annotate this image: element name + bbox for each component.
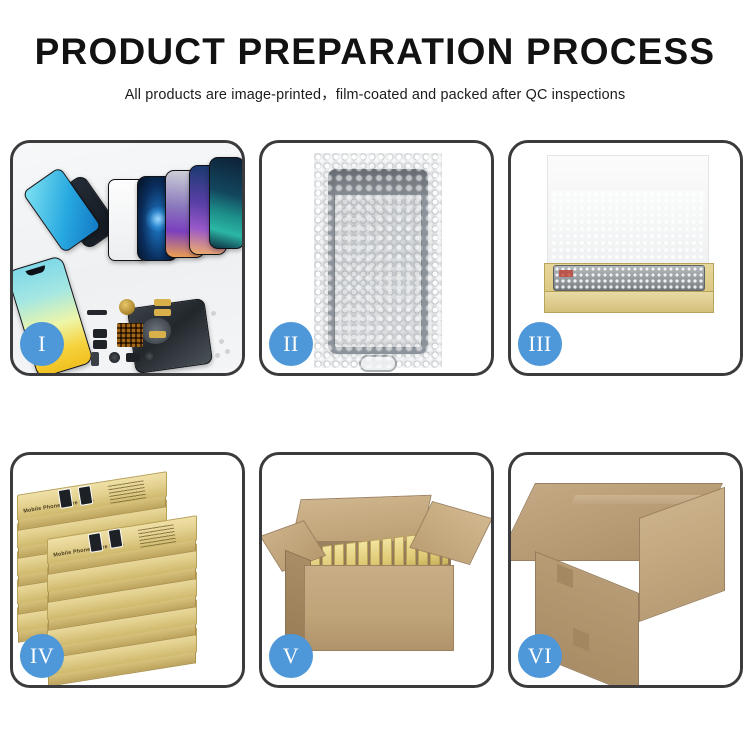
process-step-grid: I II III — [10, 140, 743, 688]
wrapped-screen-inside-box — [553, 265, 705, 291]
process-step-card-3[interactable]: III — [508, 140, 743, 376]
part-side-button — [91, 352, 99, 366]
stack-box-screen-photo-a2 — [78, 485, 94, 506]
step-badge-1: I — [20, 322, 64, 366]
stack-box-screen-photo-a1 — [58, 488, 74, 509]
step-badge-4: IV — [20, 634, 64, 678]
part-screw-a — [219, 339, 224, 344]
stack-box-screen-photo-b2 — [108, 528, 124, 549]
part-flex-cable-c — [149, 331, 166, 338]
part-flex-cable-a — [154, 299, 171, 306]
part-flex-cable-b — [154, 309, 171, 316]
process-step-card-5[interactable]: V — [259, 452, 494, 688]
inner-box-front-wall — [544, 291, 714, 313]
wrapped-phone-screen — [328, 169, 428, 354]
part-camera-module — [109, 352, 120, 363]
part-chip-array — [117, 323, 143, 347]
step-badge-6: VI — [518, 634, 562, 678]
part-screw-d — [211, 311, 216, 316]
process-step-card-6[interactable]: VI — [508, 452, 743, 688]
part-screw-b — [225, 349, 230, 354]
part-earpiece — [144, 351, 155, 362]
page-header: PRODUCT PREPARATION PROCESS All products… — [0, 0, 750, 104]
carton-front-face — [304, 565, 454, 651]
part-speaker-strip — [87, 310, 107, 315]
inner-box-foam-padding — [551, 191, 705, 269]
stack-box-screen-photo-b1 — [88, 532, 104, 553]
process-step-card-4[interactable]: Mobile Phone Spare Parts Mobile Phone Sp… — [10, 452, 245, 688]
part-connector — [126, 353, 140, 362]
process-step-card-1[interactable]: I — [10, 140, 245, 376]
part-vibrator-coil — [119, 299, 135, 315]
page-title: PRODUCT PREPARATION PROCESS — [0, 32, 750, 72]
part-small-chip-b — [93, 340, 107, 349]
process-step-card-2[interactable]: II — [259, 140, 494, 376]
part-screw-c — [215, 353, 220, 358]
phone-screen-teal-stripe — [209, 157, 242, 249]
part-small-chip-a — [93, 329, 107, 338]
product-preparation-page: PRODUCT PREPARATION PROCESS All products… — [0, 0, 750, 750]
step-badge-3: III — [518, 322, 562, 366]
page-subtitle: All products are image-printed，film-coat… — [0, 83, 750, 104]
step-badge-2: II — [269, 322, 313, 366]
bubble-wrap-sheet — [314, 153, 442, 368]
step-badge-5: V — [269, 634, 313, 678]
